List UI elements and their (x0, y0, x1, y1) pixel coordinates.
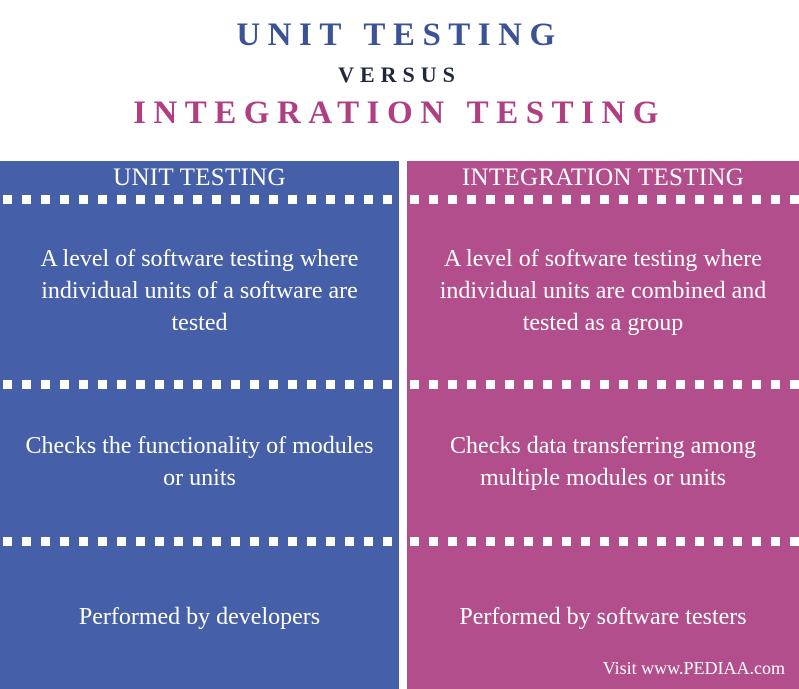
cell-text: A level of software testing where indivi… (16, 244, 383, 339)
cell-text: Checks the functionality of modules or u… (16, 431, 383, 494)
dashed-divider (407, 194, 799, 205)
table-cell: Performed by developers (0, 547, 399, 689)
dashed-divider (0, 379, 399, 390)
cell-text: A level of software testing where indivi… (423, 244, 783, 339)
comparison-table: UNIT TESTING A level of software testing… (0, 161, 799, 689)
dashed-divider (407, 379, 799, 390)
dashed-divider (407, 536, 799, 547)
cell-text: Performed by software testers (459, 602, 746, 634)
site-credit: Visit www.PEDIAA.com (603, 659, 785, 677)
dashed-divider (0, 536, 399, 547)
table-cell: A level of software testing where indivi… (0, 205, 399, 379)
cell-text: Checks data transferring among multiple … (423, 431, 783, 494)
table-cell: Checks the functionality of modules or u… (0, 390, 399, 536)
title-versus: VERSUS (338, 63, 461, 87)
table-cell: A level of software testing where indivi… (407, 205, 799, 379)
title-main: UNIT TESTING (236, 17, 562, 54)
column-unit-testing: UNIT TESTING A level of software testing… (0, 161, 399, 689)
column-header-label: UNIT TESTING (113, 165, 286, 190)
column-header-unit-testing: UNIT TESTING (0, 161, 399, 194)
title-alternate: INTEGRATION TESTING (133, 95, 666, 132)
title-block: UNIT TESTING VERSUS INTEGRATION TESTING (0, 0, 799, 161)
table-cell: Checks data transferring among multiple … (407, 390, 799, 536)
column-divider-gap (399, 161, 407, 689)
column-integration-testing: INTEGRATION TESTING A level of software … (407, 161, 799, 689)
column-header-integration-testing: INTEGRATION TESTING (407, 161, 799, 194)
column-header-label: INTEGRATION TESTING (462, 165, 744, 190)
cell-text: Performed by developers (79, 602, 320, 634)
dashed-divider (0, 194, 399, 205)
comparison-infographic: UNIT TESTING VERSUS INTEGRATION TESTING … (0, 0, 799, 689)
